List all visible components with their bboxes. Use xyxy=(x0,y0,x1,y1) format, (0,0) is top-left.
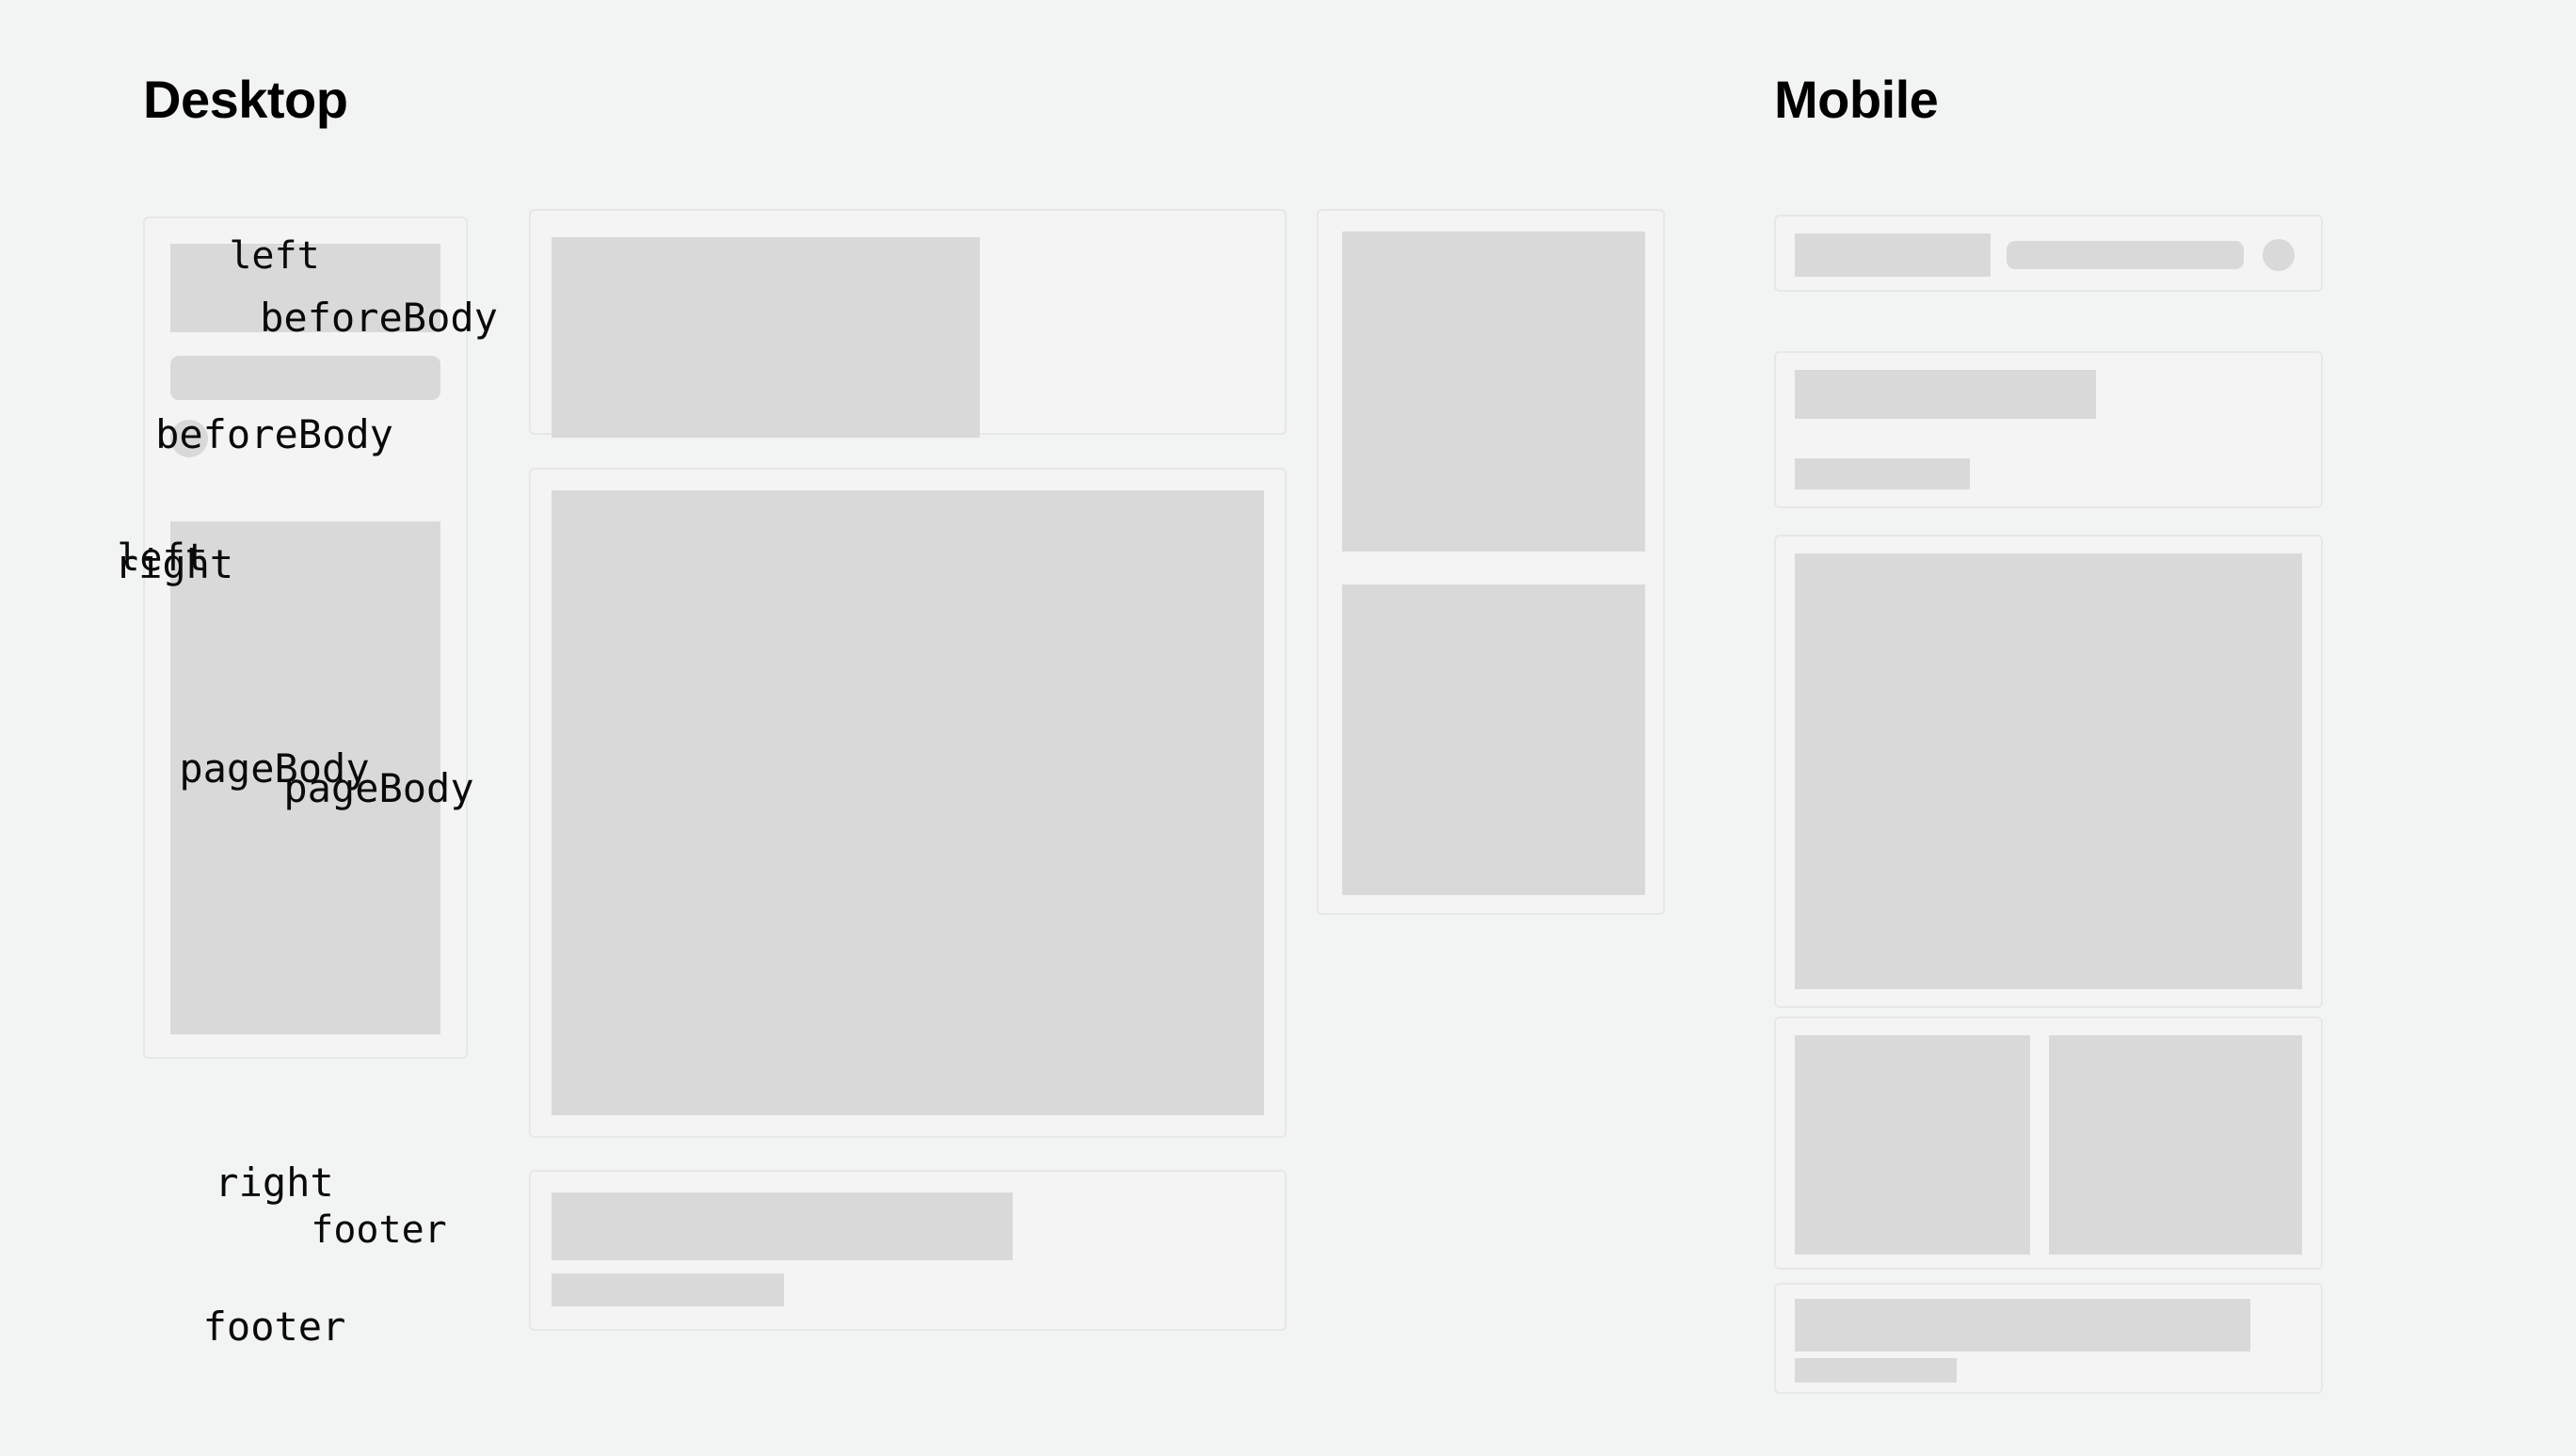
placeholder-region-right-top xyxy=(1342,232,1645,552)
mobile-page-body-panel[interactable] xyxy=(1774,535,2323,1008)
desktop-section-title: Desktop xyxy=(143,73,347,126)
region-label-footer: footer xyxy=(0,1307,549,1347)
mobile-right-panel[interactable] xyxy=(1774,1016,2323,1270)
placeholder-bar-secondary xyxy=(1795,1358,1957,1383)
desktop-right-panel[interactable] xyxy=(1317,209,1665,915)
mobile-footer-panel[interactable] xyxy=(1774,1283,2323,1394)
placeholder-avatar-circle xyxy=(170,420,208,457)
desktop-before-body-panel[interactable] xyxy=(529,209,1287,435)
wireframe-canvas: Desktop Mobile xyxy=(0,0,2576,1456)
placeholder-bar-secondary xyxy=(552,1273,784,1306)
placeholder-region-page-body xyxy=(552,490,1264,1115)
placeholder-region-right-right xyxy=(2049,1035,2302,1255)
placeholder-block xyxy=(170,244,440,332)
placeholder-bar xyxy=(170,356,440,400)
placeholder-bar-secondary xyxy=(552,383,792,437)
placeholder-block-primary xyxy=(1795,370,2096,419)
placeholder-region-right-bottom xyxy=(1342,584,1645,895)
placeholder-bar-primary xyxy=(1795,1299,2250,1352)
placeholder-bar-secondary xyxy=(1795,458,1970,489)
mobile-section-title: Mobile xyxy=(1774,73,1938,126)
desktop-page-body-panel[interactable] xyxy=(529,468,1287,1138)
region-label-right: right xyxy=(0,1163,549,1203)
desktop-footer-panel[interactable] xyxy=(529,1170,1287,1331)
placeholder-bar xyxy=(2007,241,2244,269)
placeholder-region-right-left xyxy=(1795,1035,2030,1255)
placeholder-block xyxy=(1795,233,1991,277)
placeholder-region-page-body xyxy=(1795,553,2302,989)
desktop-left-panel[interactable] xyxy=(143,216,468,1059)
placeholder-region-left xyxy=(170,521,440,1034)
mobile-left-panel[interactable] xyxy=(1774,215,2323,292)
mobile-before-body-panel[interactable] xyxy=(1774,351,2323,508)
placeholder-avatar-circle xyxy=(2263,239,2295,271)
placeholder-bar-primary xyxy=(552,1192,1013,1260)
